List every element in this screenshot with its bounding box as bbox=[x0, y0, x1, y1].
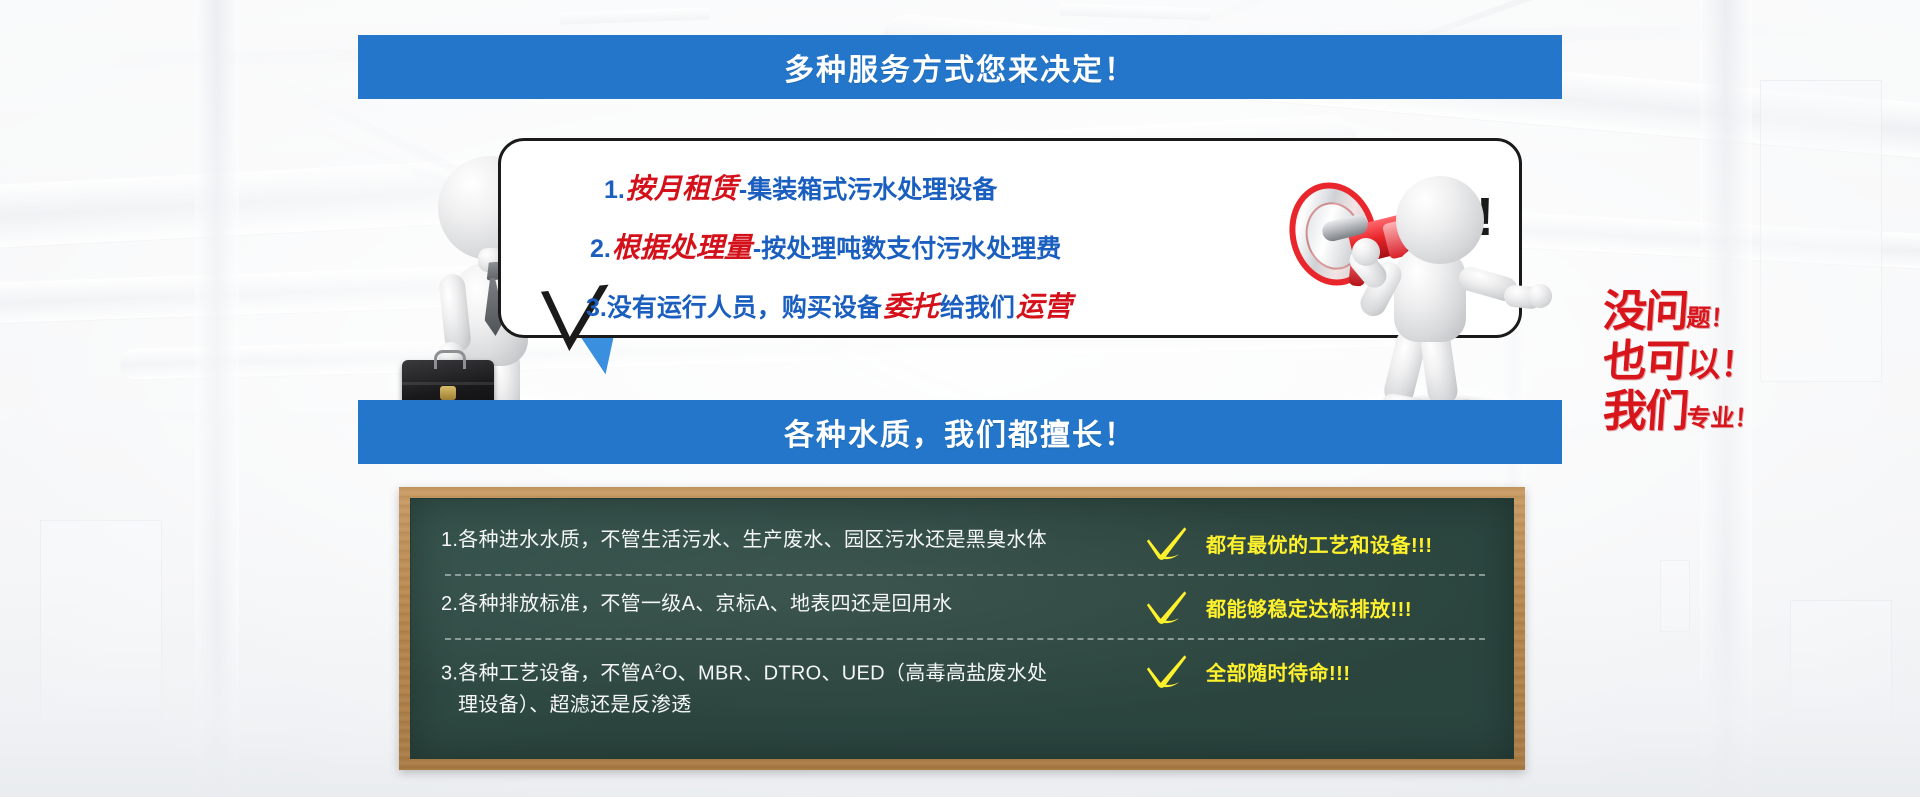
blackboard-row-1-text: 1.各种进水水质，不管生活污水、生产废水、园区污水还是黑臭水体 bbox=[441, 525, 1146, 556]
blackboard-row-2: 2.各种排放标准，不管一级A、京标A、地表四还是回用水 都能够稳定达标排放!!! bbox=[441, 589, 1487, 624]
blackboard-row-3-prefix: 3.各种工艺设备，不管A bbox=[441, 663, 655, 685]
blackboard-row-2-check: 都能够稳定达标排放!!! bbox=[1146, 589, 1412, 624]
blackboard-row-3-check: 全部随时待命!!! bbox=[1146, 653, 1350, 688]
blackboard-row-3-second-line: 理设备）、超滤还是反渗透 bbox=[441, 690, 1146, 721]
calligraphy-line-2-big: 也可 bbox=[1601, 336, 1689, 387]
bubble-line-3-emphasis-a: 委托 bbox=[882, 291, 940, 322]
blackboard-row-3-check-text: 全部随时待命!!! bbox=[1206, 657, 1350, 686]
calligraphy-line-3-big: 我们 bbox=[1601, 386, 1689, 437]
blackboard: 1.各种进水水质，不管生活污水、生产废水、园区污水还是黑臭水体 都有最优的工艺和… bbox=[410, 498, 1514, 759]
banner-mid: 各种水质，我们都擅长！ bbox=[358, 400, 1562, 464]
blackboard-separator-1 bbox=[445, 574, 1485, 576]
blackboard-row-3: 3.各种工艺设备，不管A2O、MBR、DTRO、UED（高毒高盐废水处 理设备）… bbox=[441, 653, 1487, 721]
blackboard-row-3-text: 3.各种工艺设备，不管A2O、MBR、DTRO、UED（高毒高盐废水处 理设备）… bbox=[441, 653, 1146, 721]
bubble-line-1: 1.按月租赁-集装箱式污水处理设备 bbox=[586, 160, 1206, 219]
bubble-line-2-index: 2. bbox=[590, 235, 611, 263]
bubble-line-2: 2.根据处理量-按处理吨数支付污水处理费 bbox=[586, 219, 1206, 278]
checkmark-icon bbox=[1146, 654, 1190, 688]
bubble-line-2-rest: -按处理吨数支付污水处理费 bbox=[753, 235, 1061, 263]
checkmark-icon bbox=[1146, 526, 1190, 560]
calligraphy-line-1-small: 题！ bbox=[1686, 304, 1736, 332]
blackboard-row-3-suffix: O、MBR、DTRO、UED（高毒高盐废水处 bbox=[662, 663, 1048, 685]
calligraphy-line-2-small: 以！ bbox=[1685, 345, 1756, 385]
bubble-line-1-index: 1. bbox=[604, 176, 625, 204]
blackboard-row-1: 1.各种进水水质，不管生活污水、生产废水、园区污水还是黑臭水体 都有最优的工艺和… bbox=[441, 525, 1487, 560]
blackboard-separator-2 bbox=[445, 638, 1485, 640]
bubble-text-block: 1.按月租赁-集装箱式污水处理设备 2.根据处理量-按处理吨数支付污水处理费 3… bbox=[586, 160, 1206, 337]
calligraphy-line-2: 也可以！ bbox=[1601, 340, 1794, 384]
blackboard-frame: 1.各种进水水质，不管生活污水、生产废水、园区污水还是黑臭水体 都有最优的工艺和… bbox=[399, 487, 1525, 770]
calligraphy-line-1-big: 没问 bbox=[1601, 286, 1689, 337]
bubble-line-3-text-a: 没有运行人员，购买设备 bbox=[607, 294, 882, 322]
bubble-line-1-emphasis: 按月租赁 bbox=[625, 173, 739, 204]
figure-megaphone-man bbox=[1290, 168, 1550, 430]
blackboard-row-1-check-text: 都有最优的工艺和设备!!! bbox=[1206, 529, 1432, 558]
bubble-line-1-rest: -集装箱式污水处理设备 bbox=[739, 176, 997, 204]
blackboard-row-2-text: 2.各种排放标准，不管一级A、京标A、地表四还是回用水 bbox=[441, 589, 1146, 620]
checkmark-icon bbox=[1146, 590, 1190, 624]
calligraphy-line-3-small: 专业！ bbox=[1686, 404, 1760, 432]
banner-mid-title: 各种水质，我们都擅长！ bbox=[784, 410, 1136, 454]
bubble-line-3: 3.没有运行人员，购买设备委托给我们运营 bbox=[586, 278, 1206, 337]
bubble-line-3-emphasis-b: 运营 bbox=[1015, 291, 1073, 322]
banner-top: 多种服务方式您来决定！ bbox=[358, 35, 1562, 99]
calligraphy-block: 没问题！ 也可以！ 我们专业！ bbox=[1603, 290, 1793, 440]
bubble-line-3-index: 3. bbox=[586, 294, 607, 322]
banner-top-title: 多种服务方式您来决定！ bbox=[784, 45, 1136, 89]
banner-stage: 多种服务方式您来决定！ bbox=[0, 0, 1920, 797]
calligraphy-line-1: 没问题！ bbox=[1601, 290, 1794, 334]
calligraphy-line-3: 我们专业！ bbox=[1601, 390, 1794, 434]
blackboard-row-3-superscript: 2 bbox=[655, 661, 662, 675]
blackboard-row-1-check: 都有最优的工艺和设备!!! bbox=[1146, 525, 1432, 560]
bubble-line-3-text-b: 给我们 bbox=[940, 294, 1015, 322]
blackboard-row-2-check-text: 都能够稳定达标排放!!! bbox=[1206, 593, 1412, 622]
bubble-line-2-emphasis: 根据处理量 bbox=[611, 232, 753, 263]
